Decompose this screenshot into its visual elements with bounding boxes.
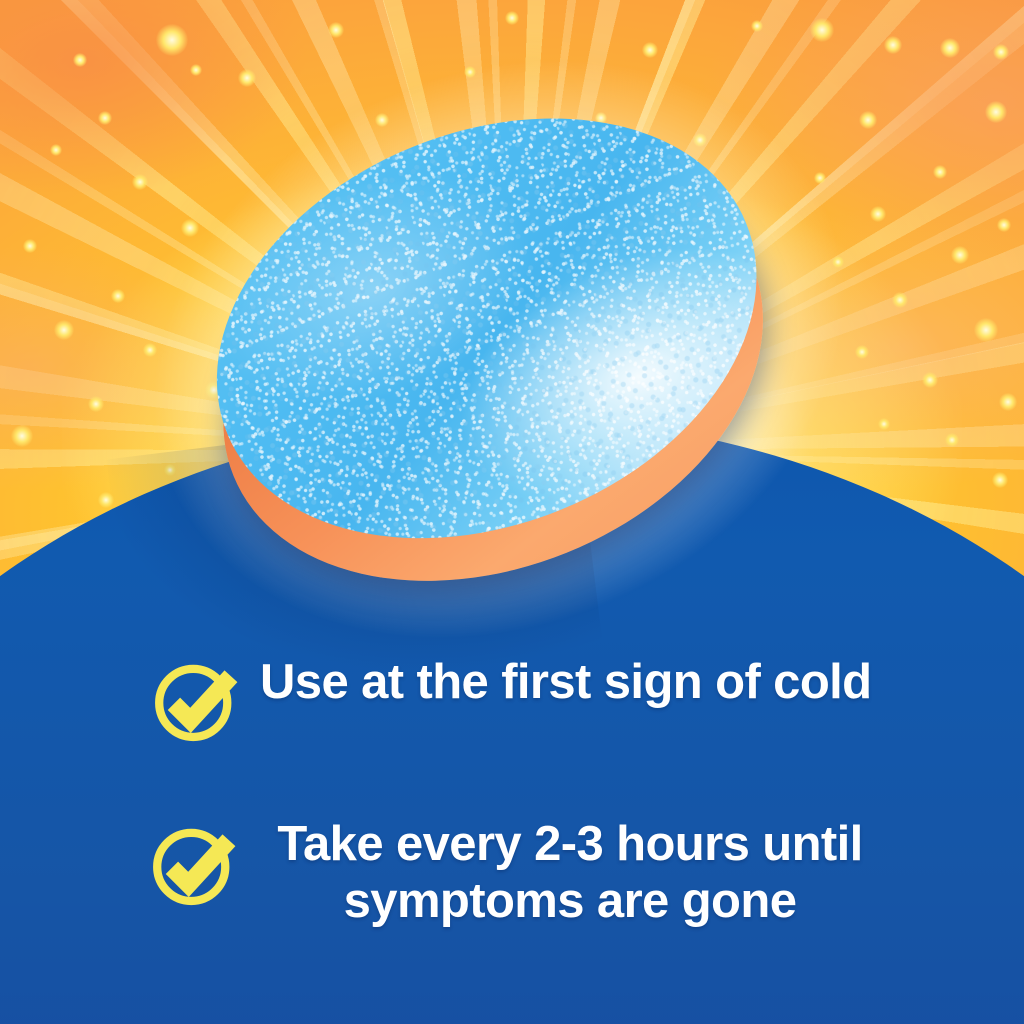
bullet-text-2-line-1: Take every 2-3 hours until: [252, 816, 888, 873]
benefit-bullet-list: Use at the first sign of cold Take every…: [0, 648, 1024, 930]
bullet-item-1: Use at the first sign of cold: [0, 648, 1024, 748]
bullet-text-2-line-2: symptoms are gone: [252, 873, 888, 930]
bullet-text-1: Use at the first sign of cold: [260, 648, 872, 711]
bullet-text-2: Take every 2-3 hours until symptoms are …: [252, 810, 888, 930]
check-circle-icon: [148, 820, 240, 912]
bullet-item-2: Take every 2-3 hours until symptoms are …: [0, 810, 1024, 930]
advertisement-canvas: Use at the first sign of cold Take every…: [0, 0, 1024, 1024]
check-circle-icon: [150, 656, 242, 748]
